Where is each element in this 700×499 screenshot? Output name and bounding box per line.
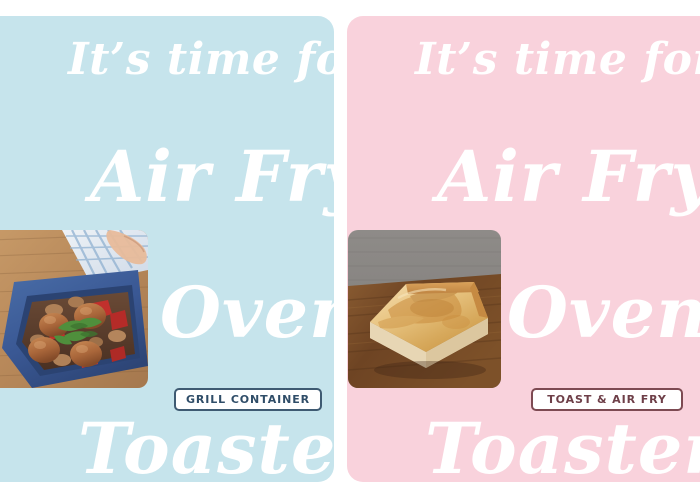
poster-grill-container[interactable]: It’s time for Air Fry Oven Toaster — [0, 16, 334, 482]
badge-grill-container[interactable]: GRILL CONTAINER — [174, 388, 322, 411]
badge-toast-air-fry[interactable]: TOAST & AIR FRY — [531, 388, 683, 411]
headline-line-4: Toaster — [78, 414, 334, 482]
grill-container-photo — [0, 230, 148, 388]
badge-toast-label: TOAST & AIR FRY — [547, 393, 667, 406]
headline-line-3: Oven — [507, 278, 700, 348]
banner-stage: It’s time for Air Fry Oven Toaster — [0, 0, 700, 499]
poster-toast-air-fry[interactable]: It’s time for Air Fry Oven Toaster — [347, 16, 700, 482]
toast-photo — [348, 230, 501, 388]
headline-line-1: It’s time for — [68, 38, 334, 82]
headline-line-2: Air Fry — [437, 142, 700, 212]
headline-line-4: Toaster — [425, 414, 700, 482]
headline-line-2: Air Fry — [90, 142, 334, 212]
headline-line-3: Oven — [160, 278, 334, 348]
badge-grill-label: GRILL CONTAINER — [186, 393, 310, 406]
headline-line-1: It’s time for — [415, 38, 700, 82]
